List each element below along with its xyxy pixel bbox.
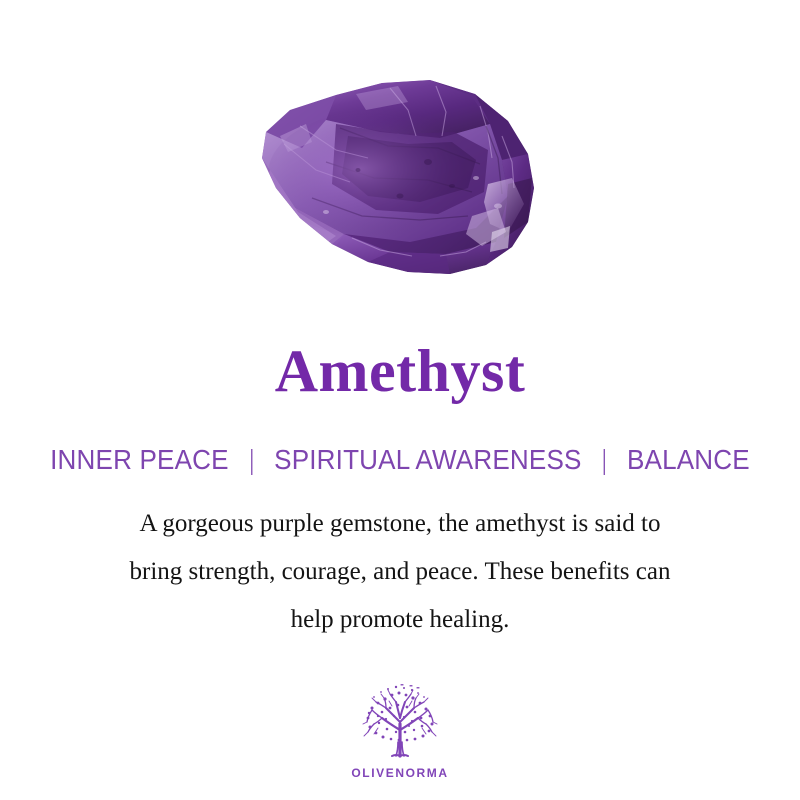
- hero-image-container: [0, 66, 800, 306]
- keyword-separator: |: [602, 443, 606, 477]
- keyword-spiritual-awareness: SPIRITUAL AWARENESS: [274, 444, 581, 475]
- page-title: Amethyst: [0, 337, 800, 405]
- tree-of-life-icon: [352, 684, 448, 764]
- description-line: bring strength, courage, and peace. Thes…: [50, 548, 750, 596]
- description-text: A gorgeous purple gemstone, the amethyst…: [50, 500, 750, 644]
- keyword-list: INNER PEACE | SPIRITUAL AWARENESS | BALA…: [28, 443, 772, 477]
- description-line: A gorgeous purple gemstone, the amethyst…: [50, 500, 750, 548]
- keyword-separator: |: [249, 443, 253, 477]
- description-line: help promote healing.: [50, 596, 750, 644]
- keyword-inner-peace: INNER PEACE: [50, 444, 229, 475]
- brand-wordmark: OLIVENORMA: [0, 766, 800, 780]
- keyword-balance: BALANCE: [627, 444, 750, 475]
- amethyst-info-card: Amethyst INNER PEACE | SPIRITUAL AWARENE…: [0, 0, 800, 800]
- brand-logo: OLIVENORMA: [0, 684, 800, 780]
- amethyst-crystal-photo: [240, 66, 560, 296]
